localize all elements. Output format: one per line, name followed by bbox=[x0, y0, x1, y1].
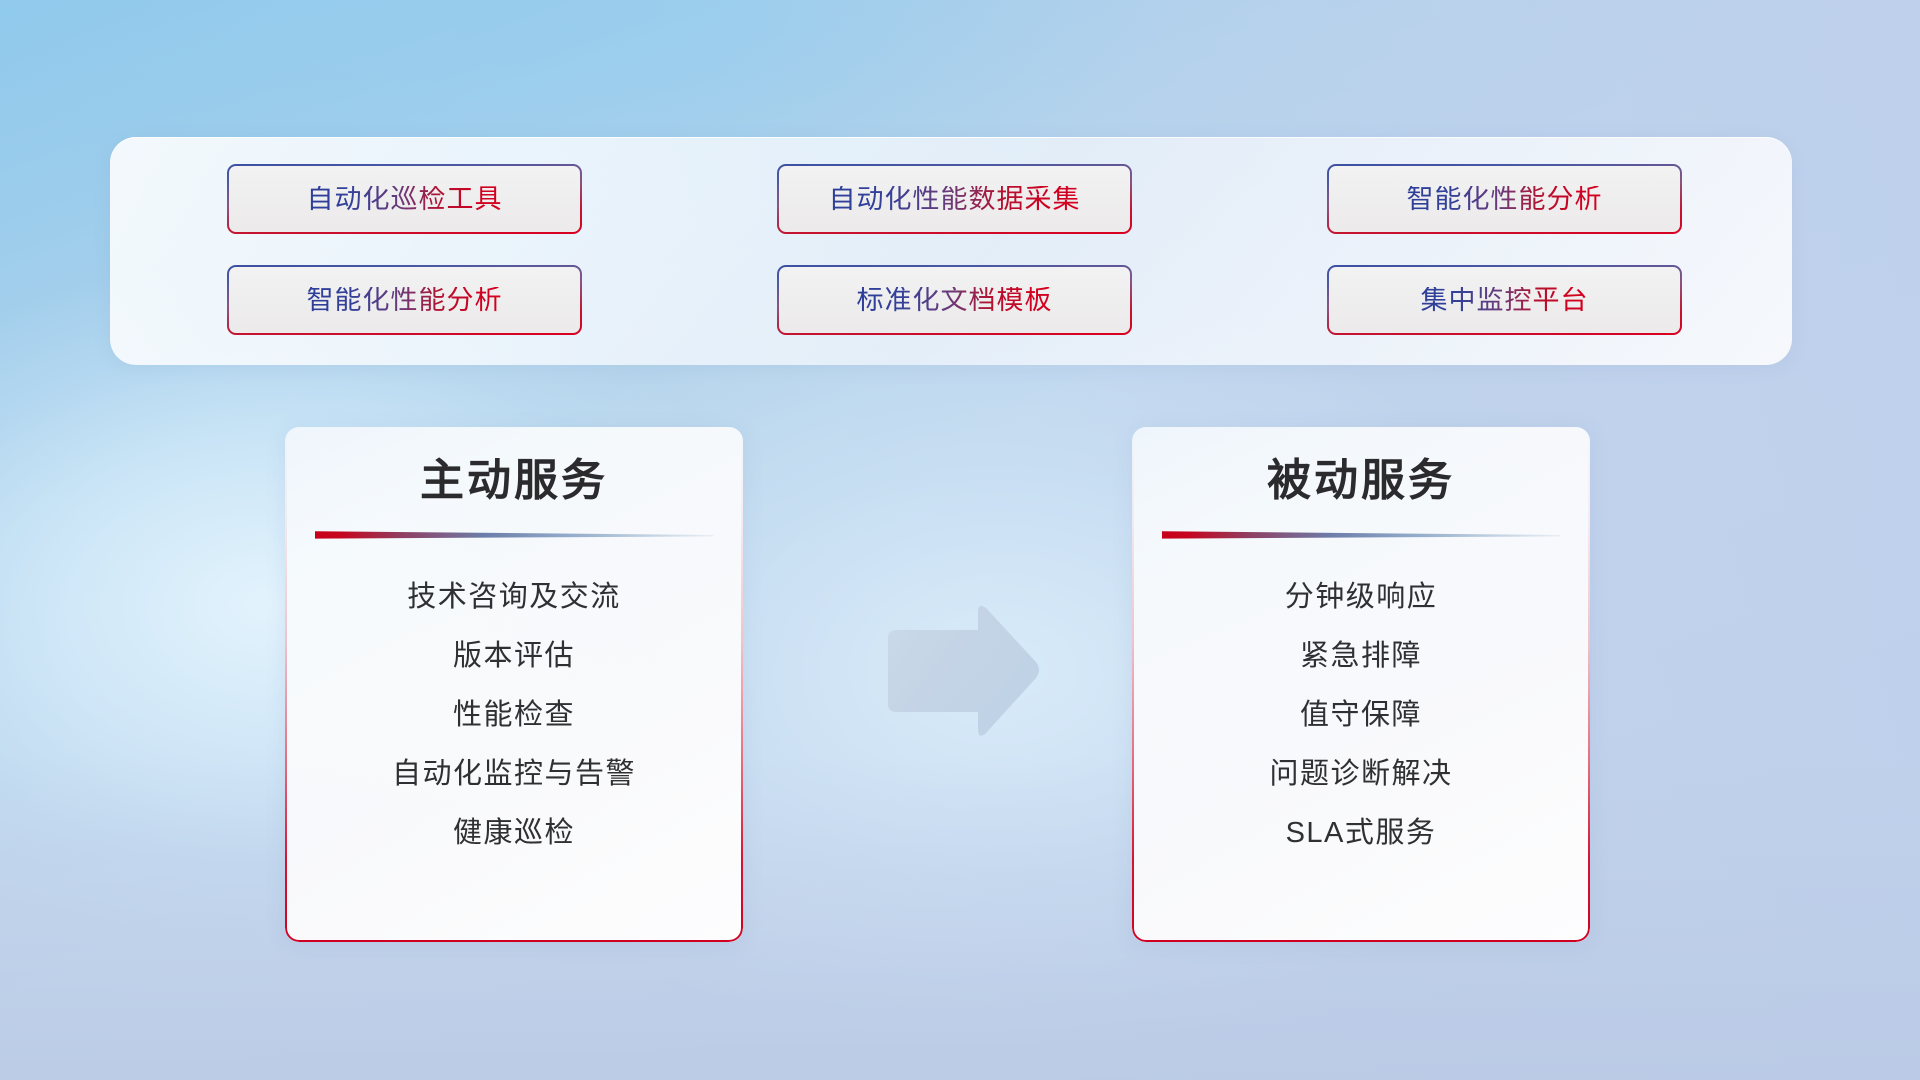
capability-pill-grid: 自动化巡检工具 自动化性能数据采集 智能化性能分析 智能化性能分析 bbox=[227, 164, 1682, 335]
proactive-service-list: 技术咨询及交流 版本评估 性能检查 自动化监控与告警 健康巡检 bbox=[285, 568, 743, 863]
capability-panel: 自动化巡检工具 自动化性能数据采集 智能化性能分析 智能化性能分析 bbox=[110, 137, 1792, 365]
service-list-item: 技术咨询及交流 bbox=[285, 568, 743, 627]
capability-pill-inner: 集中监控平台 bbox=[1329, 267, 1680, 333]
capability-pill-label: 标准化文档模板 bbox=[857, 287, 1053, 314]
capability-pill-inner: 标准化文档模板 bbox=[779, 267, 1130, 333]
capability-pill[interactable]: 自动化性能数据采集 bbox=[777, 164, 1132, 234]
flow-arrow-right-icon bbox=[880, 600, 1042, 743]
capability-pill-label: 自动化性能数据采集 bbox=[829, 186, 1081, 213]
capability-pill-inner: 自动化性能数据采集 bbox=[779, 166, 1130, 232]
card-divider-icon bbox=[315, 530, 713, 539]
service-list-item: 问题诊断解决 bbox=[1132, 745, 1590, 804]
capability-pill-label: 自动化巡检工具 bbox=[307, 186, 503, 213]
service-list-item: 性能检查 bbox=[285, 686, 743, 745]
reactive-service-list: 分钟级响应 紧急排障 值守保障 问题诊断解决 SLA式服务 bbox=[1132, 568, 1590, 863]
capability-pill[interactable]: 智能化性能分析 bbox=[1327, 164, 1682, 234]
capability-pill[interactable]: 自动化巡检工具 bbox=[227, 164, 582, 234]
service-list-item: 版本评估 bbox=[285, 627, 743, 686]
capability-pill[interactable]: 标准化文档模板 bbox=[777, 265, 1132, 335]
capability-pill-label: 智能化性能分析 bbox=[1407, 186, 1603, 213]
diagram-canvas: 自动化巡检工具 自动化性能数据采集 智能化性能分析 智能化性能分析 bbox=[0, 0, 1920, 1080]
card-title: 被动服务 bbox=[1132, 457, 1590, 505]
card-divider-icon bbox=[1162, 530, 1560, 539]
service-list-item: 自动化监控与告警 bbox=[285, 745, 743, 804]
service-list-item: 健康巡检 bbox=[285, 804, 743, 863]
service-list-item: SLA式服务 bbox=[1132, 804, 1590, 863]
capability-pill-inner: 智能化性能分析 bbox=[229, 267, 580, 333]
service-list-item: 分钟级响应 bbox=[1132, 568, 1590, 627]
reactive-service-card: 被动服务 分钟级响应 紧急排障 bbox=[1132, 427, 1590, 942]
proactive-service-card: 主动服务 技术咨询及交流 版本评估 bbox=[285, 427, 743, 942]
capability-pill-inner: 智能化性能分析 bbox=[1329, 166, 1680, 232]
capability-pill-label: 集中监控平台 bbox=[1421, 287, 1589, 314]
capability-pill-label: 智能化性能分析 bbox=[307, 287, 503, 314]
service-list-item: 值守保障 bbox=[1132, 686, 1590, 745]
service-list-item: 紧急排障 bbox=[1132, 627, 1590, 686]
card-title: 主动服务 bbox=[285, 457, 743, 505]
capability-pill[interactable]: 智能化性能分析 bbox=[227, 265, 582, 335]
capability-pill-inner: 自动化巡检工具 bbox=[229, 166, 580, 232]
capability-pill[interactable]: 集中监控平台 bbox=[1327, 265, 1682, 335]
